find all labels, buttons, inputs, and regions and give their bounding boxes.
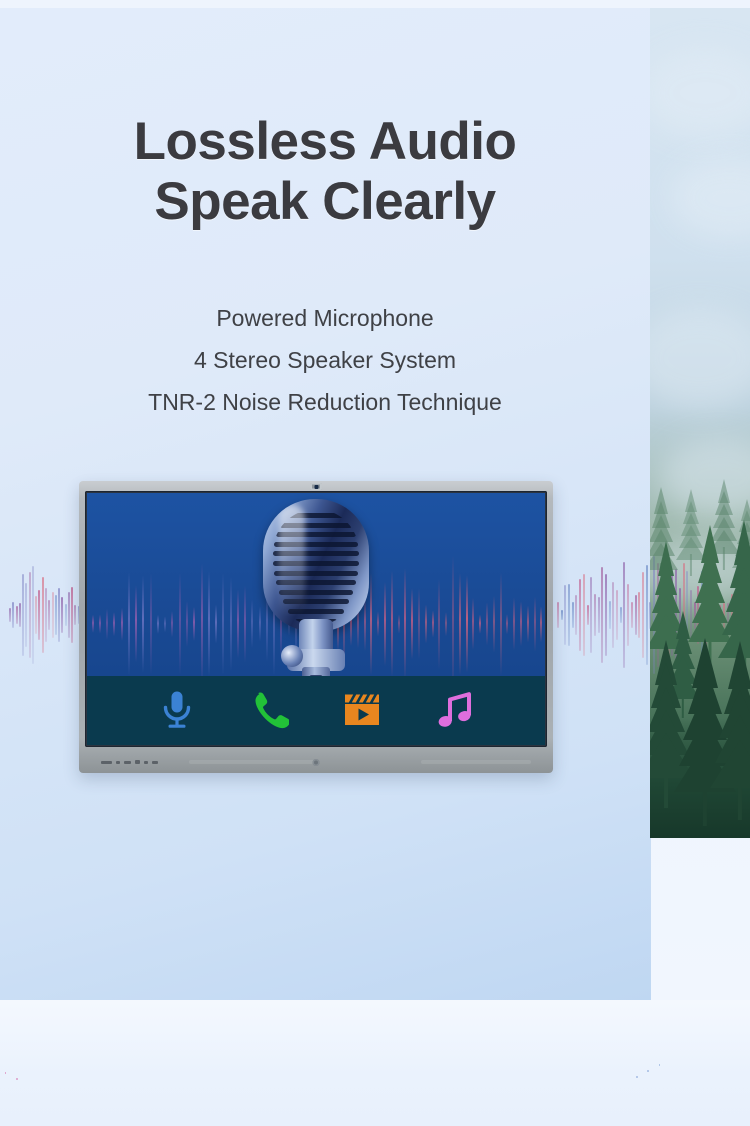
- feature-item-2: 4 Stereo Speaker System: [0, 340, 650, 382]
- screen-waveform-bar: [113, 612, 115, 636]
- screen-waveform-bar: [411, 588, 413, 659]
- conifer-tree: [710, 660, 750, 820]
- screen-waveform-bar: [142, 576, 144, 673]
- screen-waveform-bar: [452, 556, 454, 693]
- video-clapperboard-icon[interactable]: [339, 687, 385, 733]
- microphone-head: [263, 499, 369, 631]
- hero-heading-group: Lossless Audio Speak Clearly: [0, 112, 650, 232]
- screen-waveform-bar: [398, 614, 400, 633]
- retro-microphone-image: [247, 499, 385, 701]
- screen-waveform-bar: [479, 615, 481, 634]
- feature-item-3: TNR-2 Noise Reduction Technique: [0, 382, 650, 424]
- fog-layer: [650, 48, 750, 138]
- display-speaker-left: [189, 760, 319, 764]
- screen-waveform-bar: [466, 575, 468, 672]
- screen-waveform-bar: [527, 605, 529, 642]
- power-indicator-icon: [313, 759, 320, 766]
- screen-waveform-bar: [106, 609, 108, 640]
- screen-waveform-bar: [459, 573, 461, 675]
- webcam-icon: [311, 483, 322, 490]
- screen-waveform-bar: [493, 596, 495, 653]
- screen-waveform-bar: [208, 572, 210, 677]
- screen-waveform-bar: [186, 601, 188, 647]
- screen-waveform-bar: [121, 608, 123, 640]
- screen-waveform-bar: [244, 586, 246, 663]
- bottom-background: [0, 1000, 750, 1126]
- screen-waveform-bar: [520, 601, 522, 646]
- screen-waveform-bar: [534, 597, 536, 652]
- port-marking: [144, 761, 148, 764]
- port-marking: [152, 761, 158, 764]
- feature-item-1: Powered Microphone: [0, 298, 650, 340]
- page-title-line-2: Speak Clearly: [0, 172, 650, 232]
- screen-waveform-bar: [222, 573, 224, 675]
- screen-waveform-bar: [506, 614, 508, 634]
- screen-waveform-bar: [179, 573, 181, 675]
- port-marking: [116, 761, 120, 764]
- screen-waveform-bar: [540, 606, 542, 641]
- microphone-pivot: [281, 645, 303, 667]
- port-marking: [101, 761, 112, 764]
- screen-waveform-bar: [171, 611, 173, 637]
- screen-waveform-bar: [425, 604, 427, 643]
- screen-waveform-bar: [230, 577, 232, 671]
- screen-waveform-bar: [391, 571, 393, 677]
- feature-list: Powered Microphone 4 Stereo Speaker Syst…: [0, 298, 650, 424]
- screen-toolbar: [87, 676, 545, 745]
- fog-layer: [670, 158, 750, 238]
- phone-icon[interactable]: [247, 687, 293, 733]
- screen-waveform-bar: [237, 590, 239, 659]
- screen-waveform-bar: [99, 615, 101, 634]
- interactive-flat-panel-display: [79, 481, 553, 773]
- port-marking: [124, 761, 131, 764]
- screen-waveform-bar: [150, 573, 152, 674]
- screen-waveform-bar: [404, 568, 406, 679]
- fog-layer: [650, 308, 750, 408]
- screen-waveform-bar: [164, 616, 166, 632]
- port-marking: [135, 760, 140, 764]
- screen-waveform-bar: [432, 610, 434, 637]
- screen-waveform-bar: [486, 602, 488, 645]
- screen-waveform-bar: [128, 572, 130, 675]
- display-inner-frame: [85, 491, 547, 747]
- screen-waveform-bar: [472, 598, 474, 650]
- music-note-icon[interactable]: [432, 687, 478, 733]
- screen-waveform-bar: [500, 573, 502, 676]
- display-port-markings: [101, 760, 158, 764]
- screen-waveform-bar: [445, 612, 447, 636]
- page-title-line-1: Lossless Audio: [0, 112, 650, 172]
- screen-waveform-bar: [135, 585, 137, 662]
- screen-waveform-bar: [438, 579, 440, 668]
- microphone-highlight: [279, 505, 305, 617]
- screen-waveform-bar: [215, 605, 217, 644]
- screen-waveform-bar: [418, 588, 420, 659]
- microphone-icon[interactable]: [154, 687, 200, 733]
- screen-waveform-bar: [92, 615, 94, 633]
- screen-waveform-bar: [513, 597, 515, 650]
- screen-waveform-bar: [193, 607, 195, 641]
- screen-waveform-bar: [157, 615, 159, 634]
- forest-photo: [650, 8, 750, 838]
- display-screen: [87, 493, 545, 745]
- screen-waveform-bar: [201, 563, 203, 684]
- display-speaker-right: [421, 760, 531, 764]
